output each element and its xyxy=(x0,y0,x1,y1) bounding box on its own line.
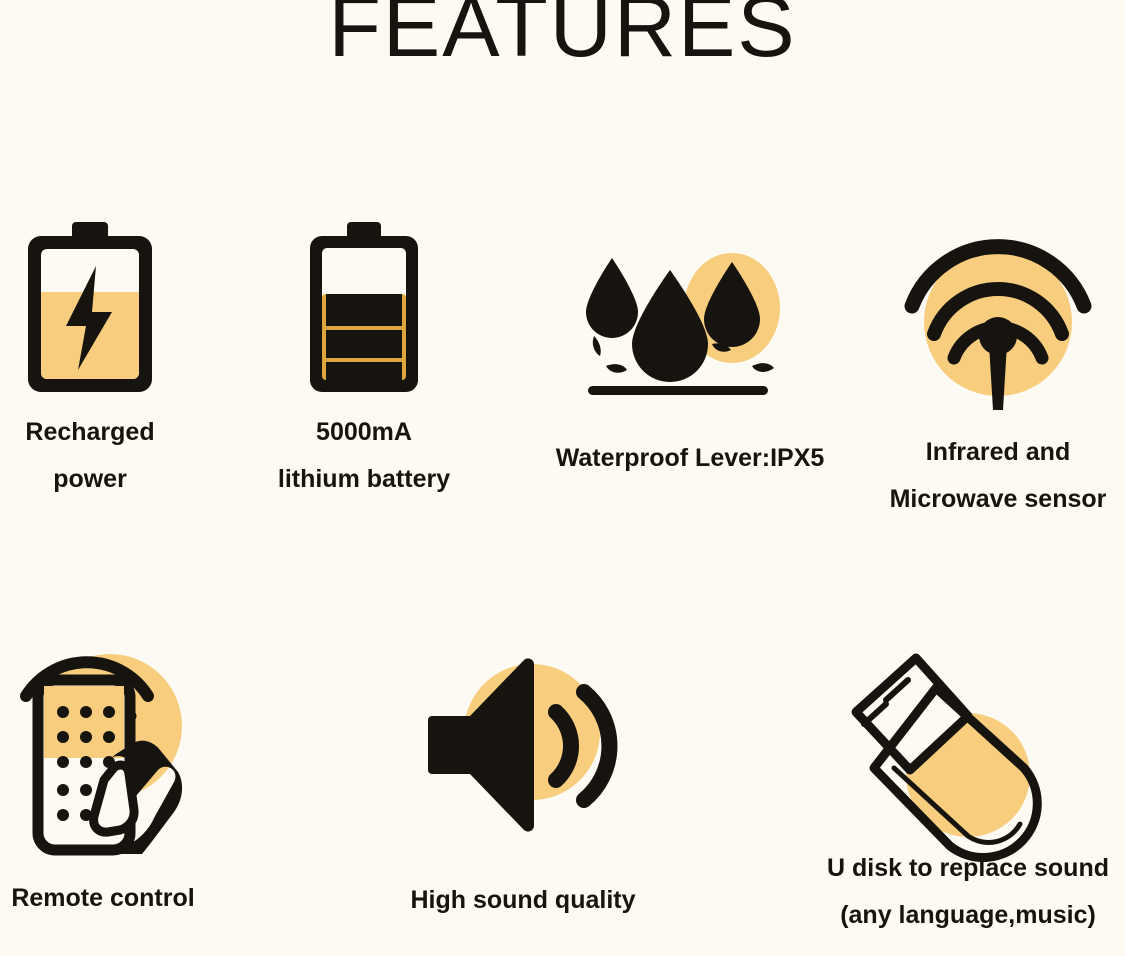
caption-line: Recharged xyxy=(0,420,180,445)
caption-line: 5000mA xyxy=(234,420,494,445)
caption-line: power xyxy=(0,467,180,492)
caption-infrared-microwave-sensor: Infrared and Microwave sensor xyxy=(883,440,1113,512)
battery-charging-icon xyxy=(22,222,158,392)
caption-line: High sound quality xyxy=(403,888,643,913)
caption-line: Infrared and xyxy=(883,440,1113,465)
feature-remote-control: Remote control xyxy=(8,604,218,854)
water-drops-icon xyxy=(580,248,800,403)
feature-u-disk: U disk to replace sound (any language,mu… xyxy=(818,640,1080,852)
feature-waterproof: Waterproof Lever:IPX5 xyxy=(580,248,800,403)
caption-high-sound-quality: High sound quality xyxy=(403,888,643,913)
hand-remote-icon xyxy=(8,604,218,854)
antenna-signal-icon xyxy=(898,218,1098,412)
feature-infrared-microwave-sensor: Infrared and Microwave sensor xyxy=(898,218,1098,412)
caption-line: Remote control xyxy=(0,886,208,911)
caption-remote-control: Remote control xyxy=(0,886,208,911)
features-infographic: FEATURES Recharged power xyxy=(0,0,1125,956)
caption-line: (any language,music) xyxy=(818,903,1118,928)
usb-flash-drive-icon xyxy=(818,640,1080,852)
page-title: FEATURES xyxy=(0,0,1125,72)
feature-lithium-battery: 5000mA lithium battery xyxy=(305,222,423,392)
battery-level-icon xyxy=(305,222,423,392)
caption-recharged-power: Recharged power xyxy=(0,420,180,492)
caption-lithium-battery: 5000mA lithium battery xyxy=(234,420,494,492)
caption-line: Microwave sensor xyxy=(883,487,1113,512)
feature-high-sound-quality: High sound quality xyxy=(428,650,618,840)
caption-line: lithium battery xyxy=(234,467,494,492)
caption-waterproof: Waterproof Lever:IPX5 xyxy=(535,446,845,471)
speaker-volume-icon xyxy=(428,650,618,840)
caption-line: Waterproof Lever:IPX5 xyxy=(535,446,845,471)
feature-recharged-power: Recharged power xyxy=(22,222,158,392)
caption-u-disk: U disk to replace sound (any language,mu… xyxy=(818,856,1118,928)
caption-line: U disk to replace sound xyxy=(818,856,1118,881)
